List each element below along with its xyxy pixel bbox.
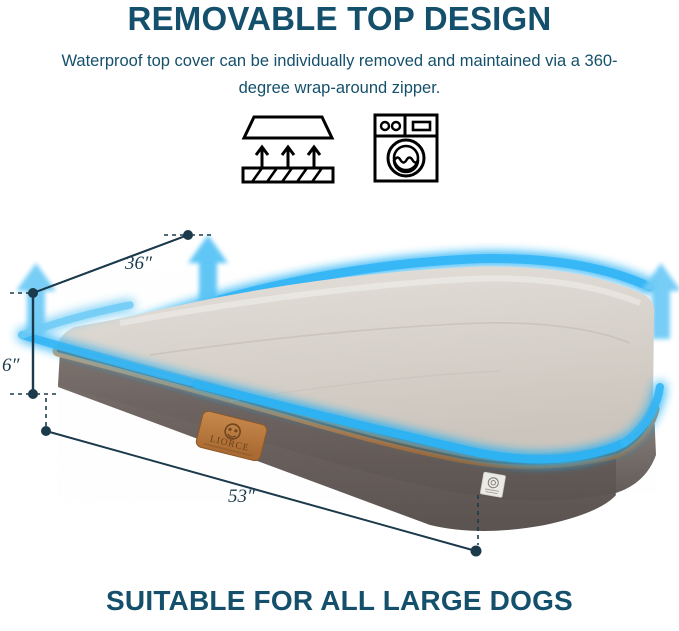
page-subtitle: Waterproof top cover can be individually… <box>0 48 679 101</box>
dimension-height-label: 6″ <box>2 355 19 377</box>
dimension-length-label: 53″ <box>228 486 255 508</box>
page-title: REMOVABLE TOP DESIGN <box>0 2 679 37</box>
product-infographic: REMOVABLE TOP DESIGN Waterproof top cove… <box>0 0 679 631</box>
product-illustration: LIORCE <box>0 195 679 580</box>
removable-cover-icon <box>240 112 336 189</box>
dimension-width-label: 36″ <box>125 253 152 275</box>
feature-icon-row <box>0 112 679 189</box>
footer-title: SUITABLE FOR ALL LARGE DOGS <box>0 585 679 617</box>
machine-washable-icon <box>372 112 440 189</box>
care-label <box>480 472 505 497</box>
dog-bed: LIORCE <box>58 267 656 531</box>
